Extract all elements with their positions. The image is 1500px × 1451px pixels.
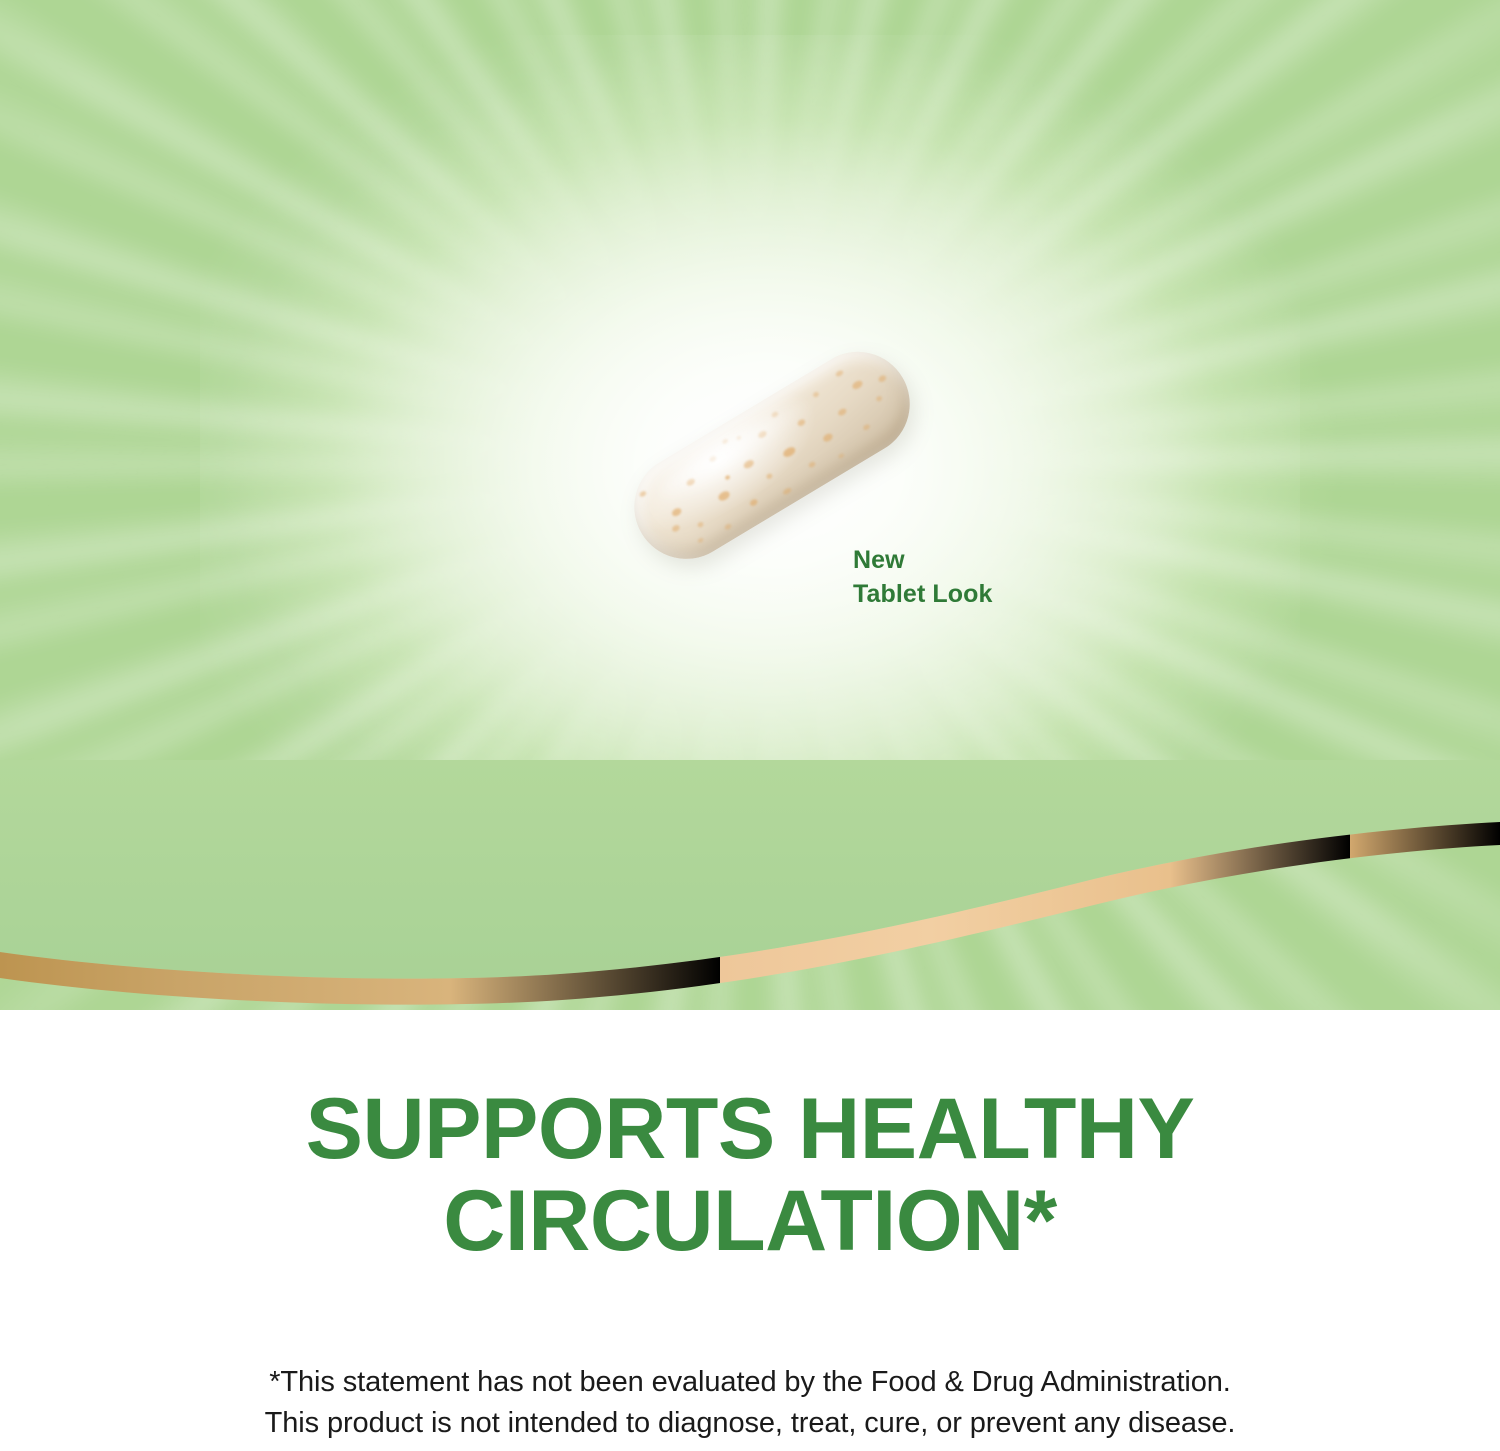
- headline-line-1: SUPPORTS HEALTHY: [0, 1083, 1500, 1175]
- green-sunburst-panel: [0, 0, 1500, 1010]
- caption-line-2: Tablet Look: [853, 580, 993, 608]
- green-gradient-background: [0, 0, 1500, 1010]
- fda-disclaimer: *This statement has not been evaluated b…: [0, 1362, 1500, 1444]
- new-tablet-look-caption: New Tablet Look: [853, 543, 993, 611]
- caption-line-1: New: [853, 546, 905, 574]
- page-headline: SUPPORTS HEALTHY CIRCULATION*: [0, 1083, 1500, 1267]
- disclaimer-line-2: This product is not intended to diagnose…: [0, 1403, 1500, 1444]
- disclaimer-line-1: *This statement has not been evaluated b…: [0, 1362, 1500, 1403]
- headline-line-2: CIRCULATION*: [0, 1175, 1500, 1267]
- product-image-canvas: New Tablet Look: [0, 0, 1500, 1451]
